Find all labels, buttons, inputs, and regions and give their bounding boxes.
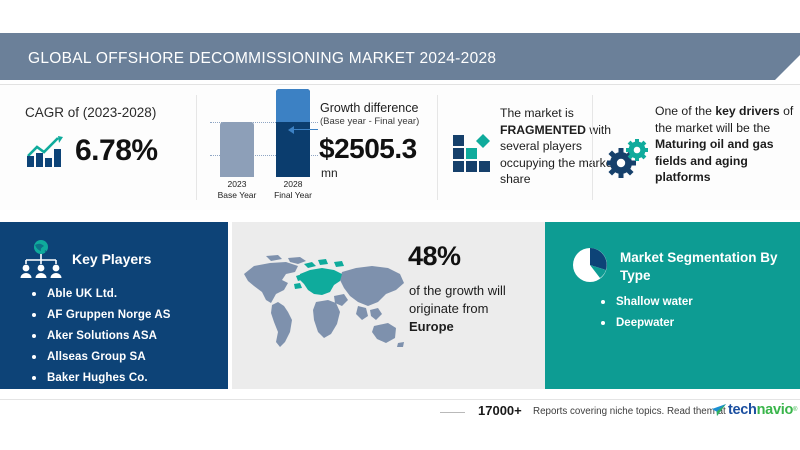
cagr-value: 6.78%: [75, 134, 158, 168]
growth-difference-title: Growth difference: [320, 101, 418, 115]
bar-chart-growth-icon: [25, 132, 67, 168]
logo-trademark: ®: [793, 407, 797, 413]
gears-icon: [607, 138, 649, 178]
region-line-2: originate from: [409, 301, 488, 316]
pie-chart-icon: [570, 244, 612, 286]
footer-rule: [440, 412, 465, 413]
callout-arrow-head-icon: [288, 126, 294, 134]
region-name: Europe: [409, 319, 454, 334]
bar-label-2023-sub: Base Year: [218, 190, 257, 200]
footer-text: Reports covering niche topics. Read them…: [533, 406, 726, 417]
page-title: GLOBAL OFFSHORE DECOMMISSIONING MARKET 2…: [28, 50, 496, 68]
segmentation-list: Shallow water Deepwater: [599, 296, 693, 338]
divider-2: [437, 95, 438, 200]
growth-difference-subtitle: (Base year - Final year): [320, 116, 419, 127]
bar-label-2028-year: 2028: [284, 179, 303, 189]
region-percentage: 48%: [408, 241, 461, 272]
bar-label-2023-year: 2023: [228, 179, 247, 189]
world-map: [238, 250, 418, 355]
fragmented-squares-icon: [452, 133, 492, 173]
drivers-keyword-2: Maturing oil and gas fields and aging pl…: [655, 137, 774, 184]
key-players-list: Able UK Ltd. AF Gruppen Norge AS Aker So…: [30, 288, 220, 393]
growth-difference-unit: mn: [321, 166, 338, 180]
bar-label-2028-sub: Final Year: [274, 190, 312, 200]
bar-2023-base-year: [220, 122, 254, 177]
logo-text-tech: tech: [728, 402, 757, 418]
growth-difference-value: $2505.3: [319, 133, 417, 165]
list-item: Deepwater: [599, 317, 693, 329]
infographic-canvas: GLOBAL OFFSHORE DECOMMISSIONING MARKET 2…: [0, 0, 800, 450]
key-drivers-text: One of the key drivers of the market wil…: [655, 103, 795, 186]
fragmented-line-1: The market is: [500, 106, 574, 120]
list-item: Able UK Ltd.: [30, 288, 220, 300]
bar-label-2028: 2028 Final Year: [267, 179, 319, 201]
fragmented-keyword: FRAGMENTED: [500, 123, 586, 137]
paper-plane-icon: [712, 404, 726, 417]
key-players-panel: Key Players Able UK Ltd. AF Gruppen Norg…: [0, 222, 228, 389]
list-item: Shallow water: [599, 296, 693, 308]
drivers-line-1: One of the: [655, 104, 715, 118]
footer-report-count: 17000+: [478, 403, 522, 418]
region-line-1: of the growth will: [409, 283, 506, 298]
market-segmentation-panel: Market Segmentation By Type Shallow wate…: [545, 222, 800, 389]
list-item: AF Gruppen Norge AS: [30, 309, 220, 321]
region-description: of the growth will originate from Europe: [409, 282, 529, 336]
divider-3: [592, 95, 593, 200]
bar-growth-difference-segment: [276, 89, 310, 122]
growth-bar-chart: 2023 Base Year 2028 Final Year: [200, 95, 330, 205]
logo-text-navio: navio: [757, 402, 793, 418]
list-item: Allseas Group SA: [30, 351, 220, 363]
global-network-icon: [18, 239, 64, 281]
list-item: Baker Hughes Co.: [30, 372, 220, 384]
list-item: Aker Solutions ASA: [30, 330, 220, 342]
footer-divider: [0, 399, 800, 400]
callout-arrow-line: [290, 129, 318, 130]
key-players-title: Key Players: [72, 251, 151, 267]
technavio-logo[interactable]: technavio®: [712, 402, 797, 418]
drivers-keyword-1: key drivers: [715, 104, 779, 118]
bar-label-2023: 2023 Base Year: [211, 179, 263, 201]
segmentation-title: Market Segmentation By Type: [620, 249, 790, 285]
divider-1: [196, 95, 197, 200]
cagr-label: CAGR of (2023-2028): [25, 105, 156, 120]
